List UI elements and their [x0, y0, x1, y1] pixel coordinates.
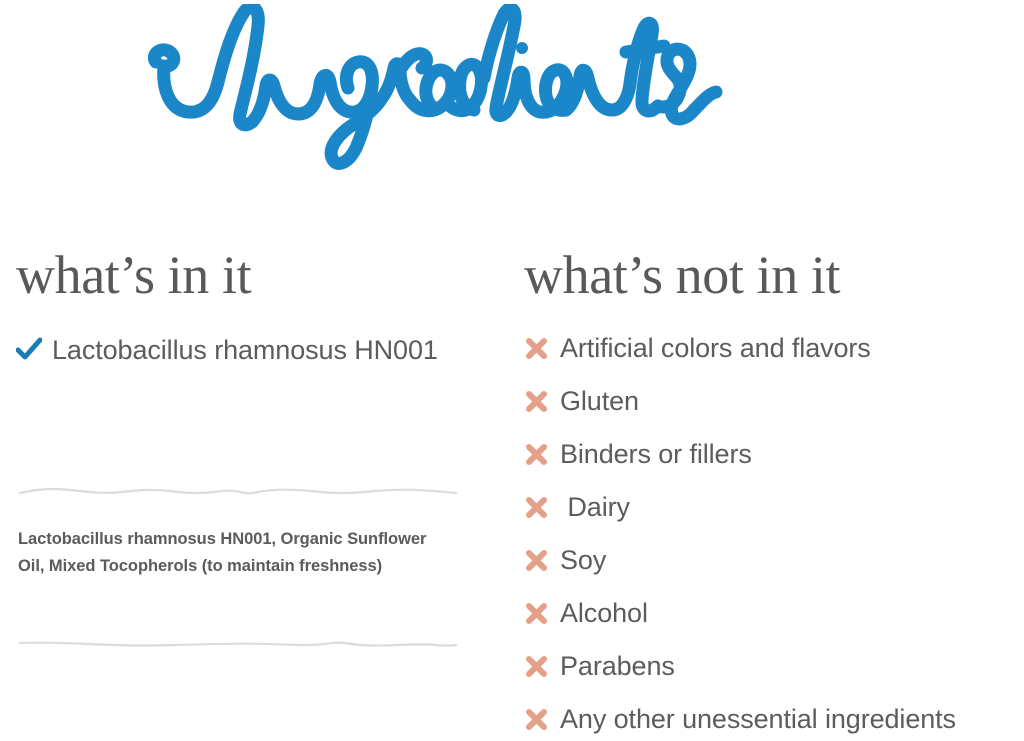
list-item-label: Artificial colors and flavors — [560, 334, 871, 362]
heading-whats-not-in-it: what’s not in it — [524, 248, 1024, 302]
list-item: Soy — [524, 546, 1024, 574]
column-whats-in-it: what’s in it Lactobacillus rhamnosus HN0… — [16, 248, 516, 364]
list-item: Alcohol — [524, 599, 1024, 627]
check-icon — [16, 336, 42, 364]
list-item: Any other unessential ingredients — [524, 705, 1024, 733]
list-item-label: Any other unessential ingredients — [560, 705, 956, 733]
x-icon — [524, 334, 550, 362]
x-icon — [524, 493, 550, 521]
x-icon — [524, 440, 550, 468]
squiggle-divider-top — [18, 486, 458, 498]
list-item: Binders or fillers — [524, 440, 1024, 468]
ingredients-excluded-list: Artificial colors and flavors Gluten Bin… — [524, 334, 1024, 733]
list-item: Gluten — [524, 387, 1024, 415]
ingredients-script-logo — [148, 4, 820, 176]
list-item-label: Binders or fillers — [560, 440, 752, 468]
ingredients-included-list: Lactobacillus rhamnosus HN001 — [16, 336, 516, 364]
page-title-banner: Ingredients — [0, 0, 1024, 185]
x-icon — [524, 652, 550, 680]
column-whats-not-in-it: what’s not in it Artificial colors and f… — [524, 248, 1024, 733]
list-item-label: Dairy — [560, 493, 630, 521]
x-icon — [524, 387, 550, 415]
list-item: Lactobacillus rhamnosus HN001 — [16, 336, 516, 364]
ingredients-detail-paragraph: Lactobacillus rhamnosus HN001, Organic S… — [18, 526, 438, 580]
list-item-label: Lactobacillus rhamnosus HN001 — [52, 336, 438, 364]
x-icon — [524, 546, 550, 574]
x-icon — [524, 705, 550, 733]
list-item: Parabens — [524, 652, 1024, 680]
squiggle-divider-bottom — [18, 638, 458, 650]
list-item-label: Gluten — [560, 387, 639, 415]
list-item-label: Alcohol — [560, 599, 648, 627]
list-item: Dairy — [524, 493, 1024, 521]
list-item-label: Soy — [560, 546, 606, 574]
x-icon — [524, 599, 550, 627]
list-item-label: Parabens — [560, 652, 675, 680]
list-item: Artificial colors and flavors — [524, 334, 1024, 362]
heading-whats-in-it: what’s in it — [16, 248, 516, 302]
